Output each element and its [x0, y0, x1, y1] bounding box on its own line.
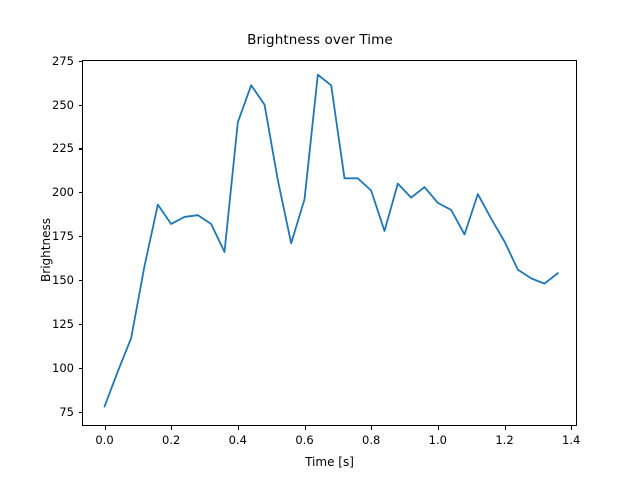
y-tick-mark — [79, 412, 83, 413]
y-tick-mark — [79, 280, 83, 281]
brightness-line — [105, 75, 558, 407]
y-tick-label: 250 — [26, 98, 74, 112]
y-tick-mark — [79, 192, 83, 193]
y-tick-mark — [79, 324, 83, 325]
page-title: Brightness over Time — [0, 32, 640, 48]
x-tick-label: 0.6 — [295, 433, 313, 447]
y-tick-label: 125 — [26, 317, 74, 331]
x-tick-label: 1.0 — [429, 433, 447, 447]
x-tick-mark — [571, 426, 572, 430]
x-axis-label: Time [s] — [82, 455, 577, 469]
plot-area: 751001251501752002252502750.00.20.40.60.… — [82, 60, 577, 426]
x-tick-label: 0.2 — [162, 433, 180, 447]
x-tick-mark — [105, 426, 106, 430]
x-tick-label: 1.2 — [495, 433, 513, 447]
y-tick-mark — [79, 368, 83, 369]
y-tick-label: 75 — [26, 405, 74, 419]
y-tick-label: 150 — [26, 273, 74, 287]
chart-figure: Brightness over Time Brightness Time [s]… — [0, 0, 640, 480]
x-tick-mark — [238, 426, 239, 430]
y-tick-label: 175 — [26, 229, 74, 243]
line-series — [82, 60, 577, 426]
y-tick-label: 200 — [26, 185, 74, 199]
y-tick-label: 275 — [26, 54, 74, 68]
x-tick-label: 0.8 — [362, 433, 380, 447]
x-tick-label: 1.4 — [562, 433, 580, 447]
y-tick-mark — [79, 105, 83, 106]
y-tick-mark — [79, 61, 83, 62]
x-tick-mark — [371, 426, 372, 430]
y-tick-label: 225 — [26, 141, 74, 155]
x-tick-mark — [505, 426, 506, 430]
x-tick-mark — [438, 426, 439, 430]
y-tick-label: 100 — [26, 361, 74, 375]
x-tick-label: 0.0 — [95, 433, 113, 447]
x-tick-mark — [305, 426, 306, 430]
y-tick-mark — [79, 148, 83, 149]
y-tick-mark — [79, 236, 83, 237]
y-axis-label: Brightness — [39, 190, 53, 310]
x-tick-mark — [171, 426, 172, 430]
x-tick-label: 0.4 — [229, 433, 247, 447]
